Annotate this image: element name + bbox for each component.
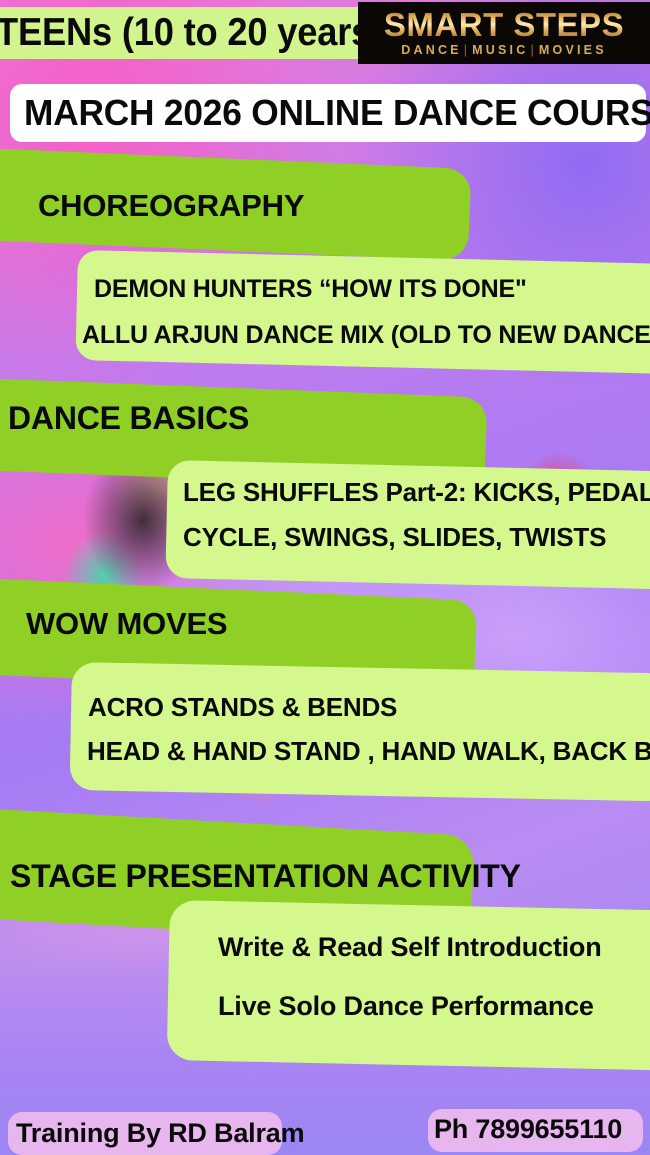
brand-logo: SMART STEPS DANCE|MUSIC|MOVIES xyxy=(358,2,650,64)
brand-name: SMART STEPS xyxy=(384,8,624,42)
wow-moves-item-1: ACRO STANDS & BENDS xyxy=(88,692,397,722)
brand-tagline: DANCE|MUSIC|MOVIES xyxy=(401,43,606,58)
dance-basics-item-2: CYCLE, SWINGS, SLIDES, TWISTS xyxy=(183,522,606,552)
choreography-item-2: ALLU ARJUN DANCE MIX (OLD TO NEW DANCE H… xyxy=(82,320,650,350)
tagline-separator-1: | xyxy=(462,43,472,57)
section-heading-stage-presentation: STAGE PRESENTATION ACTIVITY xyxy=(10,858,521,894)
tagline-music: MUSIC xyxy=(472,43,528,57)
wow-moves-item-2: HEAD & HAND STAND , HAND WALK, BACK BEND xyxy=(87,736,650,766)
section-heading-choreography: CHOREOGRAPHY xyxy=(38,188,304,224)
top-strip: TEENs (10 to 20 years) SMART STEPS DANCE… xyxy=(0,0,650,67)
page-title: MARCH 2026 ONLINE DANCE COURSE PLAN xyxy=(24,93,650,133)
course-plan-poster: TEENs (10 to 20 years) SMART STEPS DANCE… xyxy=(0,0,650,1155)
section-heading-wow-moves: WOW MOVES xyxy=(26,606,227,642)
stage-presentation-item-1: Write & Read Self Introduction xyxy=(218,932,602,962)
section-panel-stage-presentation xyxy=(167,900,650,1071)
dance-basics-item-1: LEG SHUFFLES Part-2: KICKS, PEDALS, xyxy=(183,477,650,507)
tagline-movies: MOVIES xyxy=(539,43,607,57)
tagline-dance: DANCE xyxy=(401,43,461,57)
trainer-label: Training By RD Balram xyxy=(16,1117,304,1149)
section-panel-wow-moves xyxy=(70,662,650,801)
section-heading-dance-basics: DANCE BASICS xyxy=(8,400,249,436)
age-group-label: TEENs (10 to 20 years) xyxy=(0,10,383,56)
section-panel-choreography xyxy=(75,250,650,374)
stage-presentation-item-2: Live Solo Dance Performance xyxy=(218,991,594,1021)
tagline-separator-2: | xyxy=(528,43,538,57)
choreography-item-1: DEMON HUNTERS “HOW ITS DONE" xyxy=(94,274,527,304)
phone-label[interactable]: Ph 7899655110 xyxy=(434,1113,622,1145)
poster-title-bar: MARCH 2026 ONLINE DANCE COURSE PLAN xyxy=(10,84,646,142)
